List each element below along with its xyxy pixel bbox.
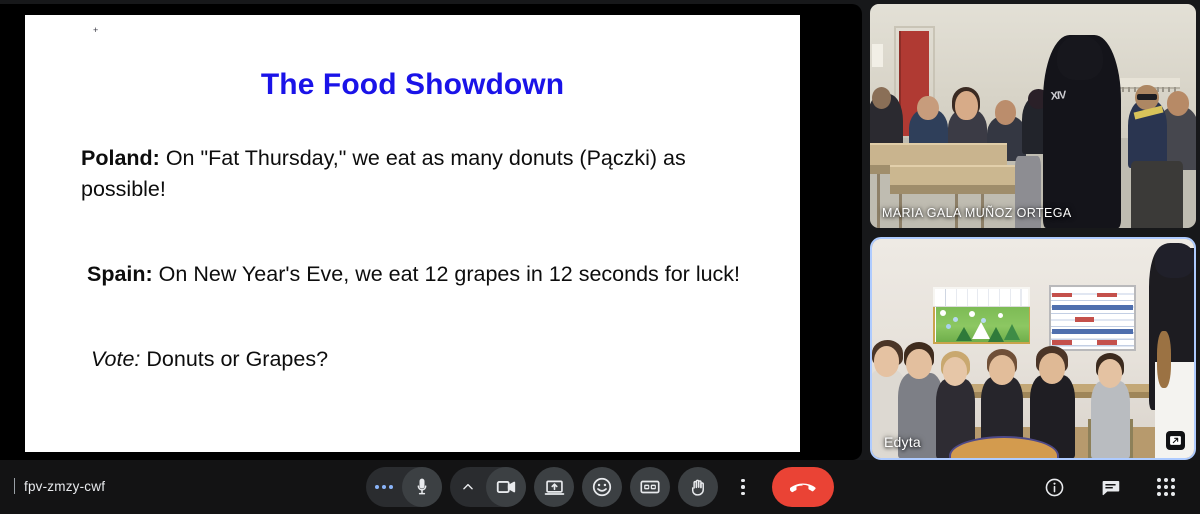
picture-in-picture-icon[interactable]	[1166, 431, 1185, 450]
slide-paragraph-spain: Spain: On New Year's Eve, we eat 12 grap…	[81, 259, 771, 290]
slide-paragraph-poland: Poland: On "Fat Thursday," we eat as man…	[81, 143, 771, 205]
right-call-controls	[1034, 467, 1186, 507]
participant-tiles: XIV MARIA GALA MUÑOZ ORTEGA	[870, 4, 1196, 460]
paragraph-lead-vote: Vote:	[91, 347, 140, 371]
bottom-control-bar: fpv-zmzy-cwf	[0, 460, 1200, 514]
present-screen-button[interactable]	[534, 467, 574, 507]
call-controls	[366, 467, 834, 507]
participant-name-label: Edyta	[884, 434, 921, 450]
slide-paragraph-vote: Vote: Donuts or Grapes?	[81, 344, 771, 375]
presented-slide: + The Food Showdown Poland: On "Fat Thur…	[25, 15, 800, 452]
paragraph-text-poland: On "Fat Thursday," we eat as many donuts…	[81, 146, 686, 201]
paragraph-text-vote: Donuts or Grapes?	[140, 347, 328, 371]
participant-name-label: MARIA GALA MUÑOZ ORTEGA	[882, 206, 1072, 220]
raise-hand-button[interactable]	[678, 467, 718, 507]
chevron-up-icon[interactable]	[450, 467, 486, 507]
slide-body: Poland: On "Fat Thursday," we eat as man…	[81, 143, 771, 375]
info-icon[interactable]	[1034, 467, 1074, 507]
presentation-stage[interactable]: + The Food Showdown Poland: On "Fat Thur…	[0, 4, 862, 460]
participant-video-edyta	[872, 239, 1194, 458]
microphone-control-group	[366, 467, 442, 507]
end-call-button[interactable]	[772, 467, 834, 507]
paragraph-lead-spain: Spain:	[87, 262, 153, 286]
emoji-reaction-button[interactable]	[582, 467, 622, 507]
participant-video-maria: XIV	[870, 4, 1196, 228]
meeting-code-text: fpv-zmzy-cwf	[24, 479, 105, 494]
more-vertical-icon[interactable]	[726, 467, 760, 507]
meet-app-window: + The Food Showdown Poland: On "Fat Thur…	[0, 0, 1200, 514]
paragraph-lead-poland: Poland:	[81, 146, 160, 170]
participant-tile-edyta[interactable]: Edyta	[870, 237, 1196, 460]
microphone-button[interactable]	[402, 467, 442, 507]
chat-bubble-icon[interactable]	[1090, 467, 1130, 507]
meeting-code-area: fpv-zmzy-cwf	[14, 478, 105, 494]
participant-tile-maria[interactable]: XIV MARIA GALA MUÑOZ ORTEGA	[870, 4, 1196, 228]
camera-button[interactable]	[486, 467, 526, 507]
camera-control-group	[450, 467, 526, 507]
paragraph-text-spain: On New Year's Eve, we eat 12 grapes in 1…	[153, 262, 740, 286]
cursor-artifact-icon: +	[93, 27, 100, 34]
more-options-dots-icon[interactable]	[366, 467, 402, 507]
closed-captions-button[interactable]	[630, 467, 670, 507]
apps-grid-icon[interactable]	[1146, 467, 1186, 507]
slide-title: The Food Showdown	[25, 68, 800, 102]
divider	[14, 478, 15, 494]
